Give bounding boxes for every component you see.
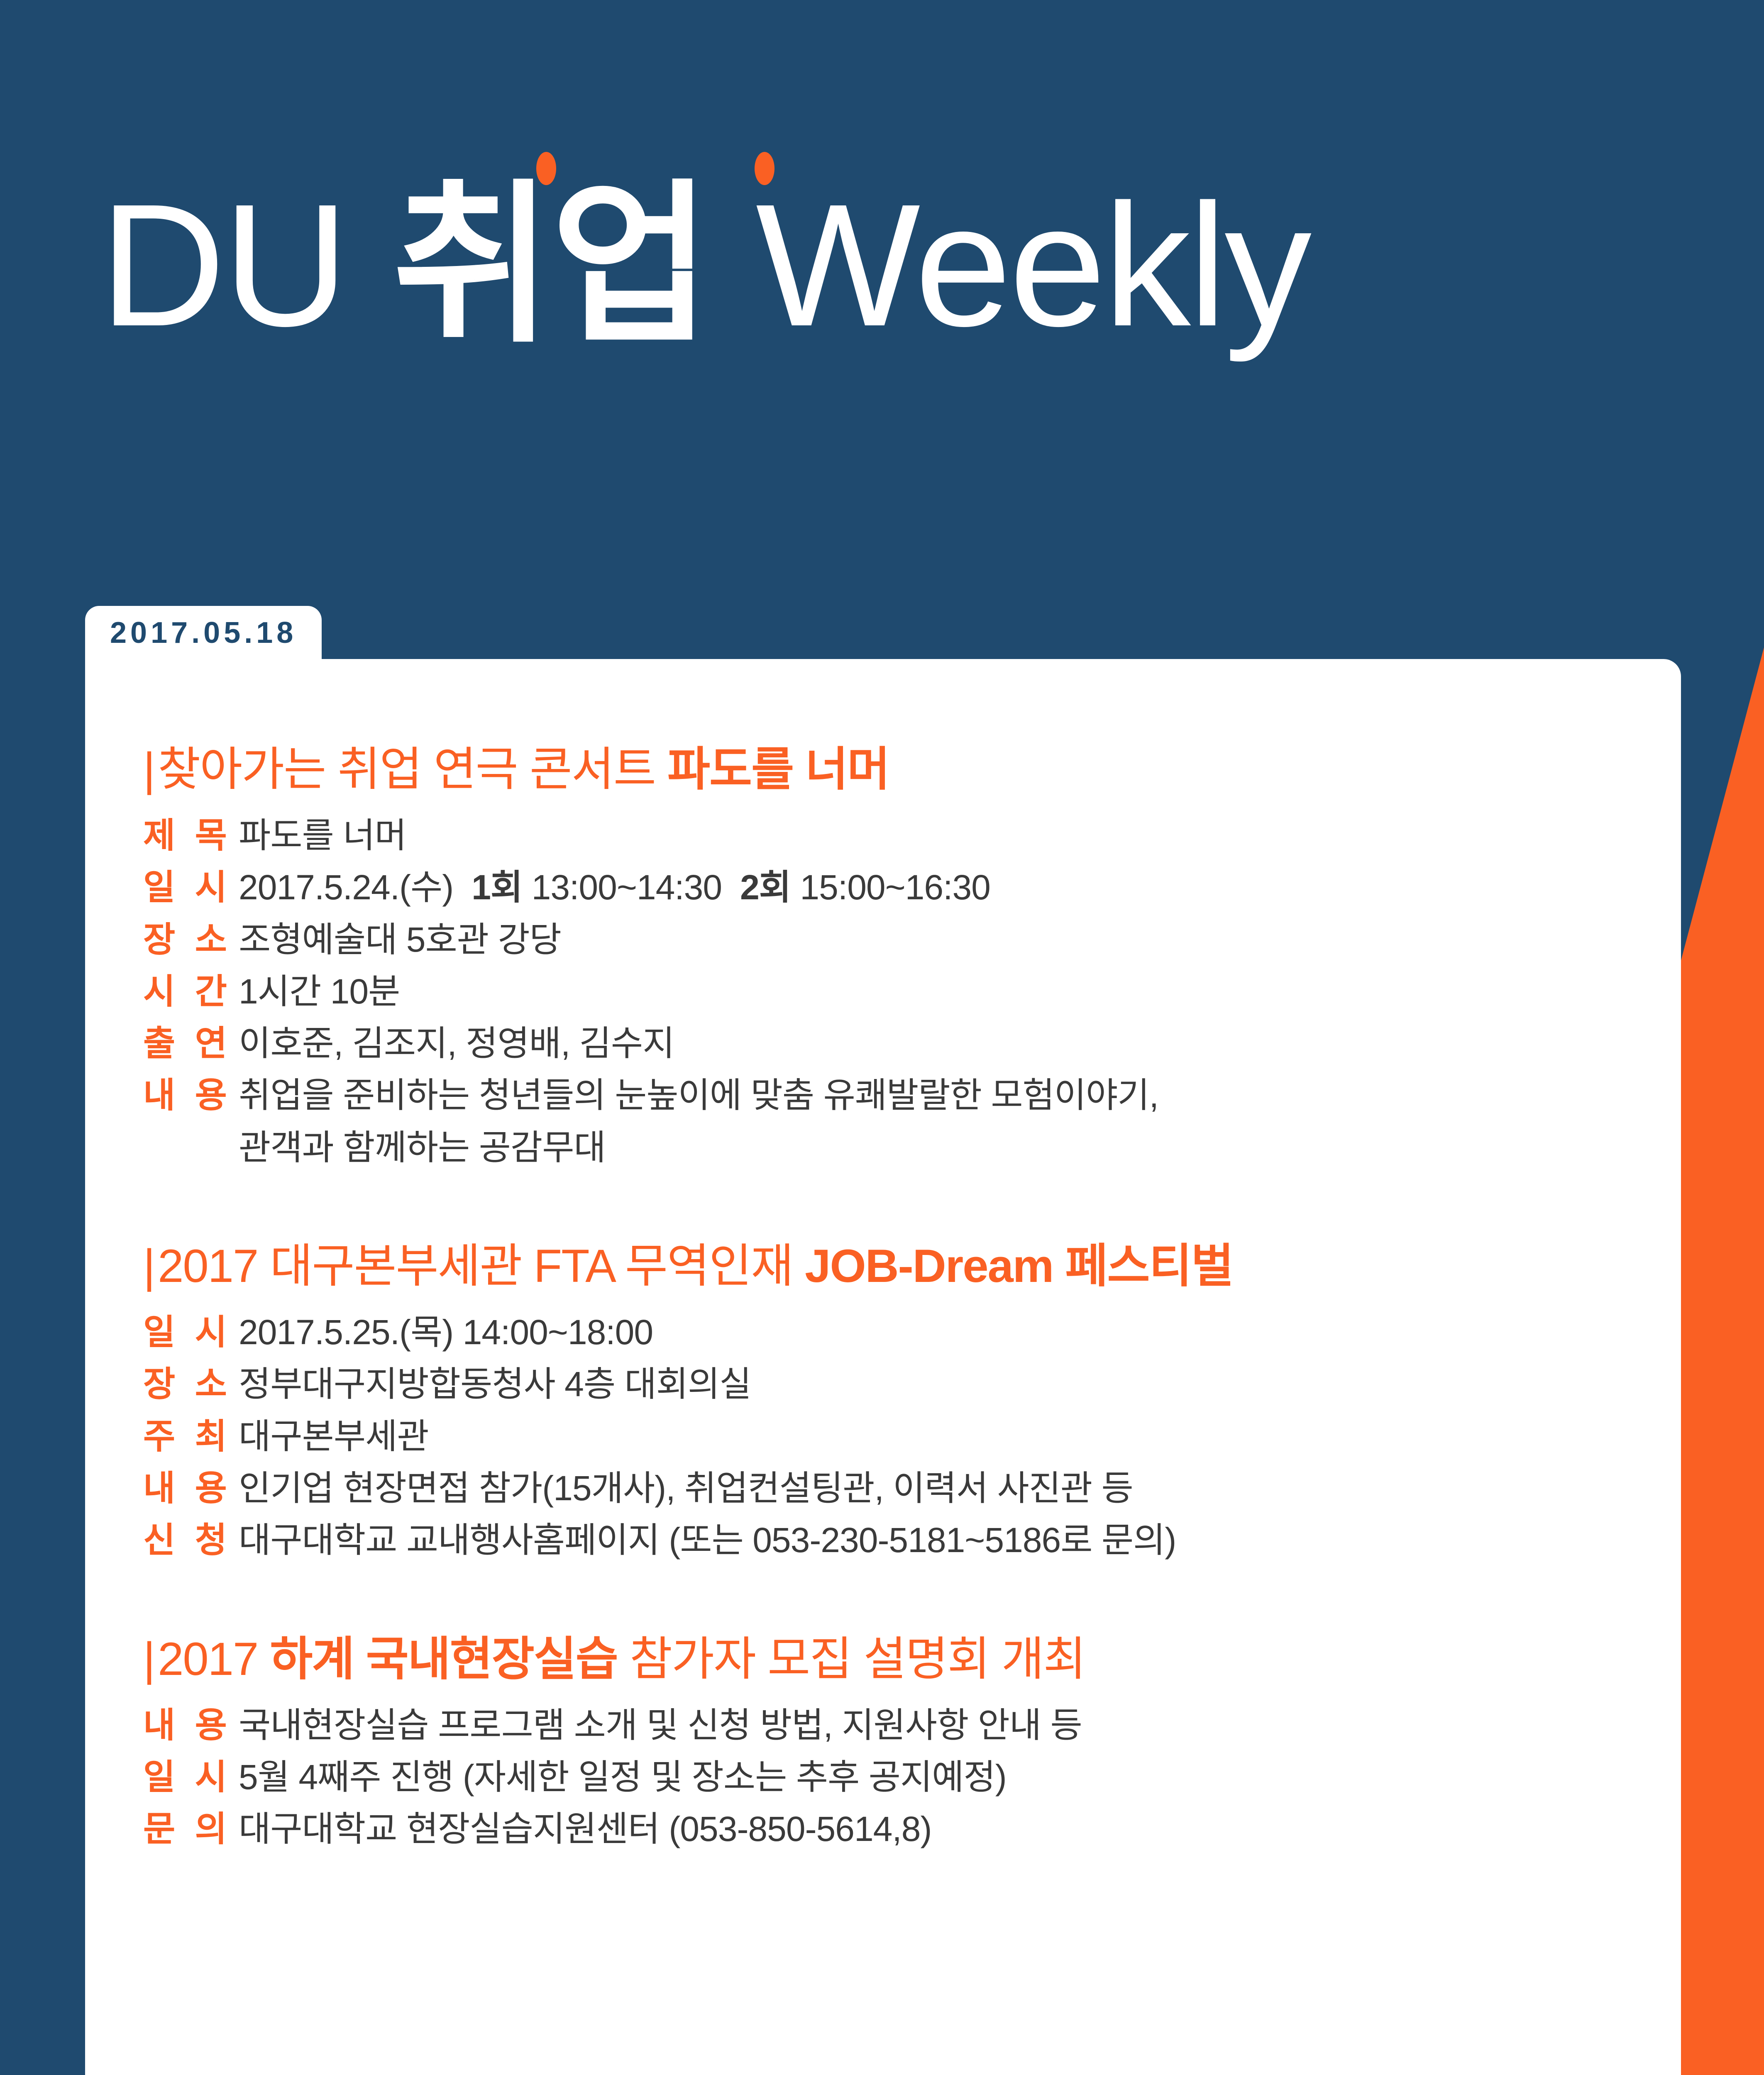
content-card: |찾아가는 취업 연극 콘서트 파도를 너머 제 목 파도를 너머 일 시 20… bbox=[85, 659, 1681, 2075]
info-row-label: 제 목 bbox=[143, 811, 239, 860]
info-row-value: 2017.5.25.(목) 14:00~18:00 bbox=[239, 1308, 653, 1357]
info-row-label: 신 청 bbox=[143, 1516, 239, 1565]
content-card-inner: |찾아가는 취업 연극 콘서트 파도를 너머 제 목 파도를 너머 일 시 20… bbox=[143, 742, 1623, 1856]
info-row-label: 문 의 bbox=[143, 1804, 239, 1854]
info-row: 일 시 2017.5.24.(수)1회 13:00~14:302회 15:00~… bbox=[143, 863, 1623, 912]
info-row-value: 대구대학교 교내행사홈페이지 (또는 053-230-5181~5186로 문의… bbox=[239, 1516, 1176, 1565]
info-row-value: 조형예술대 5호관 강당 bbox=[239, 915, 561, 964]
info-row-value-schedule: 2017.5.24.(수)1회 13:00~14:302회 15:00~16:3… bbox=[239, 863, 990, 912]
section-3-bar: | bbox=[143, 1633, 154, 1685]
schedule-badge-2: 2회 bbox=[740, 868, 791, 907]
info-row-value: 대구본부세관 bbox=[239, 1412, 429, 1461]
info-row-continuation: 내 용 관객과 함께하는 공감무대 bbox=[143, 1123, 1623, 1172]
section-job-dream-festival: |2017 대구본부세관 FTA 무역인재 JOB-Dream 페스티벌 일 시… bbox=[143, 1239, 1623, 1565]
info-row-label: 일 시 bbox=[143, 863, 239, 912]
section-3-heading-post: 참가자 모집 설명회 개최 bbox=[618, 1633, 1085, 1685]
info-row: 문 의 대구대학교 현장실습지원센터 (053-850-5614,8) bbox=[143, 1804, 1623, 1854]
info-row-label: 일 시 bbox=[143, 1753, 239, 1802]
schedule-time-1: 13:00~14:30 bbox=[532, 868, 722, 907]
info-row: 시 간 1시간 10분 bbox=[143, 967, 1623, 1016]
info-row: 일 시 5월 4째주 진행 (자세한 일정 및 장소는 추후 공지예정) bbox=[143, 1753, 1623, 1802]
section-1-heading: |찾아가는 취업 연극 콘서트 파도를 너머 bbox=[143, 742, 1623, 797]
section-3-heading-pre: 2017 bbox=[158, 1633, 270, 1685]
section-2-heading: |2017 대구본부세관 FTA 무역인재 JOB-Dream 페스티벌 bbox=[143, 1239, 1623, 1294]
info-row: 신 청 대구대학교 교내행사홈페이지 (또는 053-230-5181~5186… bbox=[143, 1516, 1623, 1565]
info-row: 장 소 정부대구지방합동청사 4층 대회의실 bbox=[143, 1360, 1623, 1409]
poster-canvas: DU 취업 Weekly 2017.05.18 |찾아가는 취업 연극 콘서트 … bbox=[0, 0, 1764, 2075]
info-row-label: 시 간 bbox=[143, 967, 239, 1016]
logo-title: DU 취업 Weekly bbox=[100, 178, 1309, 353]
info-row: 내 용 인기업 현장면접 참가(15개사), 취업컨설팅관, 이력서 사진관 등 bbox=[143, 1464, 1623, 1513]
info-row-label: 일 시 bbox=[143, 1308, 239, 1357]
info-row-label: 출 연 bbox=[143, 1019, 239, 1068]
issue-date-tab: 2017.05.18 bbox=[85, 606, 322, 660]
info-row: 일 시 2017.5.25.(목) 14:00~18:00 bbox=[143, 1308, 1623, 1357]
info-row: 출 연 이호준, 김조지, 정영배, 김수지 bbox=[143, 1019, 1623, 1068]
section-1-heading-normal: 찾아가는 취업 연극 콘서트 bbox=[158, 743, 667, 795]
section-2-heading-normal: 2017 대구본부세관 FTA 무역인재 bbox=[158, 1240, 805, 1292]
info-row-label: 내 용 bbox=[143, 1464, 239, 1513]
info-row: 주 최 대구본부세관 bbox=[143, 1412, 1623, 1461]
info-row-value: 대구대학교 현장실습지원센터 (053-850-5614,8) bbox=[239, 1804, 931, 1854]
info-row-value: 관객과 함께하는 공감무대 bbox=[239, 1123, 606, 1172]
info-row-value: 취업을 준비하는 청년들의 눈높이에 맞춤 유쾌발랄한 모험이야기, bbox=[239, 1071, 1158, 1120]
info-row: 내 용 취업을 준비하는 청년들의 눈높이에 맞춤 유쾌발랄한 모험이야기, bbox=[143, 1071, 1623, 1120]
masthead: DU 취업 Weekly bbox=[0, 0, 1764, 581]
info-row-value: 5월 4째주 진행 (자세한 일정 및 장소는 추후 공지예정) bbox=[239, 1753, 1007, 1802]
schedule-date: 2017.5.24.(수) bbox=[239, 868, 453, 907]
info-row: 장 소 조형예술대 5호관 강당 bbox=[143, 915, 1623, 964]
schedule-badge-1: 1회 bbox=[472, 868, 522, 907]
section-3-heading-strong: 하계 국내현장실습 bbox=[270, 1633, 617, 1685]
logo-korean: 취업 bbox=[392, 168, 710, 363]
issue-date-label: 2017.05.18 bbox=[110, 616, 297, 650]
section-3-heading: |2017 하계 국내현장실습 참가자 모집 설명회 개최 bbox=[143, 1632, 1623, 1687]
section-1-bar: | bbox=[143, 743, 154, 795]
info-row-label: 장 소 bbox=[143, 1360, 239, 1409]
logo-prefix: DU bbox=[100, 168, 392, 363]
section-1-heading-strong: 파도를 너머 bbox=[667, 743, 889, 795]
section-field-training-briefing: |2017 하계 국내현장실습 참가자 모집 설명회 개최 내 용 국내현장실습… bbox=[143, 1632, 1623, 1854]
info-row-value: 국내현장실습 프로그램 소개 및 신청 방법, 지원사항 안내 등 bbox=[239, 1701, 1082, 1750]
info-row-label: 장 소 bbox=[143, 915, 239, 964]
info-row-value: 정부대구지방합동청사 4층 대회의실 bbox=[239, 1360, 751, 1409]
logo-suffix: Weekly bbox=[710, 168, 1309, 363]
info-row-value: 이호준, 김조지, 정영배, 김수지 bbox=[239, 1019, 674, 1068]
section-2-rows: 일 시 2017.5.25.(목) 14:00~18:00 장 소 정부대구지방… bbox=[143, 1308, 1623, 1565]
section-3-rows: 내 용 국내현장실습 프로그램 소개 및 신청 방법, 지원사항 안내 등 일 … bbox=[143, 1701, 1623, 1854]
info-row: 제 목 파도를 너머 bbox=[143, 811, 1623, 860]
info-row-value: 1시간 10분 bbox=[239, 967, 400, 1016]
section-2-bar: | bbox=[143, 1240, 154, 1292]
info-row-label: 내 용 bbox=[143, 1071, 239, 1120]
section-1-rows: 제 목 파도를 너머 일 시 2017.5.24.(수)1회 13:00~14:… bbox=[143, 811, 1623, 1172]
info-row-value: 인기업 현장면접 참가(15개사), 취업컨설팅관, 이력서 사진관 등 bbox=[239, 1464, 1133, 1513]
info-row-value: 파도를 너머 bbox=[239, 811, 406, 860]
info-row-label: 내 용 bbox=[143, 1701, 239, 1750]
schedule-time-2: 15:00~16:30 bbox=[800, 868, 990, 907]
info-row-label: 주 최 bbox=[143, 1412, 239, 1461]
section-2-heading-strong: JOB-Dream 페스티벌 bbox=[805, 1240, 1233, 1292]
info-row: 내 용 국내현장실습 프로그램 소개 및 신청 방법, 지원사항 안내 등 bbox=[143, 1701, 1623, 1750]
section-theatre-concert: |찾아가는 취업 연극 콘서트 파도를 너머 제 목 파도를 너머 일 시 20… bbox=[143, 742, 1623, 1172]
orange-right-accent-shape bbox=[1677, 647, 1764, 2075]
